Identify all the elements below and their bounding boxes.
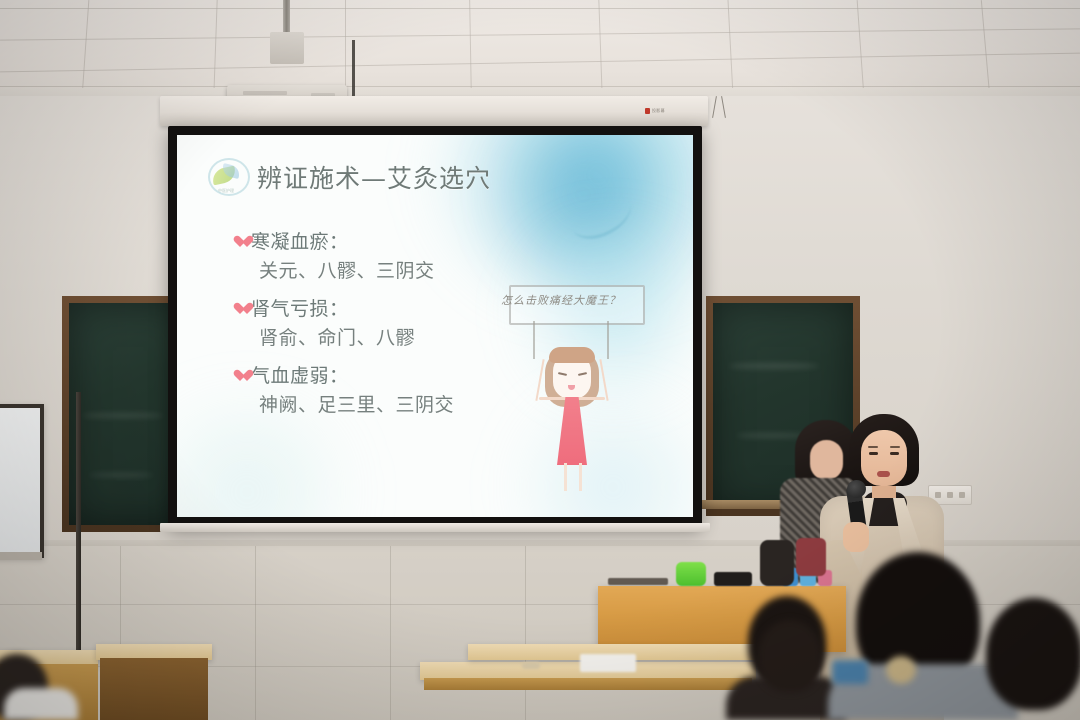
projector-mount-bracket [270,32,304,64]
cartoon-fringe [549,347,595,363]
lectern-item-red-bag [796,538,826,576]
roller-brand-label: 投影幕 [645,106,675,115]
cartoon-sign-text: 怎么击败痛经大魔王？ [501,292,621,308]
roller-brand-text: 投影幕 [652,108,665,114]
slide-logo: 中医护理 [205,157,251,203]
desk-left-second-shelf [100,658,208,720]
foreground-student-phone [832,660,868,684]
lectern-item-bag-dark [760,540,794,586]
desk-row-center-apron [424,678,752,690]
side-whiteboard [0,404,44,558]
presenter-brow-left [868,446,878,448]
desk-item-pen [522,662,540,669]
ceiling-tile-grid [0,0,1080,100]
foreground-student-head-3 [986,598,1080,710]
heart-bullet-icon [233,302,248,316]
cartoon-dress [557,397,587,465]
presenter-face [861,430,907,486]
screen-hook [712,96,726,118]
cartoon-arm-right [599,359,608,401]
cartoon-leg-left [564,463,567,491]
bullet-heading: 气血虚弱： [251,363,349,389]
slide-title: 辨证施术—艾灸选穴 [257,159,491,195]
sign-pole-right [607,321,609,359]
presenter-eye-right [890,452,899,455]
heart-bullet-icon [233,369,248,383]
bullet-detail: 关元、八髎、三阴交 [259,258,563,284]
logo-caption: 中医护理 [211,188,241,194]
assistant-face [810,440,843,480]
lectern-item-green-bag [676,562,706,586]
presenter-brow-right [890,446,900,448]
foreground-student-head-4 [758,620,822,692]
foreground-student-shirt-5 [4,688,78,720]
presenter-hand [843,522,869,552]
desk-item-papers [580,654,636,672]
projection-screen: 中医护理 辨证施术—艾灸选穴 寒凝血瘀： 关元、八髎、三阴交 肾气亏损： 肾俞、… [168,126,702,526]
sign-pole-left [533,321,535,359]
bullet-heading: 寒凝血瘀： [251,229,349,255]
roller-red-dot [645,108,650,114]
heart-bullet-icon [233,235,248,249]
classroom-scene: 投影幕 中医护理 辨证施术—艾灸选穴 寒凝血 [0,0,1080,720]
cartoon-illustration: 怎么击败痛经大魔王？ [495,285,645,495]
screen-roller-casing [160,96,708,126]
foreground-student-hair-tie [886,656,916,684]
lectern-item-dark-device [714,572,752,586]
door-jamb [76,392,81,682]
whiteboard-tray [0,552,42,560]
ceiling [0,0,1080,100]
lectern-small-objects [608,578,668,585]
cartoon-leg-right [579,463,582,491]
projector-mount-pole [283,0,290,36]
slide-surface: 中医护理 辨证施术—艾灸选穴 寒凝血瘀： 关元、八髎、三阴交 肾气亏损： 肾俞、… [177,135,693,517]
bullet-item-1: 寒凝血瘀： [233,229,563,255]
screen-bottom-bar [160,523,710,532]
presenter-eye-left [869,452,878,455]
presenter-mouth [877,471,890,477]
bullet-heading: 肾气亏损： [251,296,349,322]
cartoon-arm-left [535,359,544,401]
